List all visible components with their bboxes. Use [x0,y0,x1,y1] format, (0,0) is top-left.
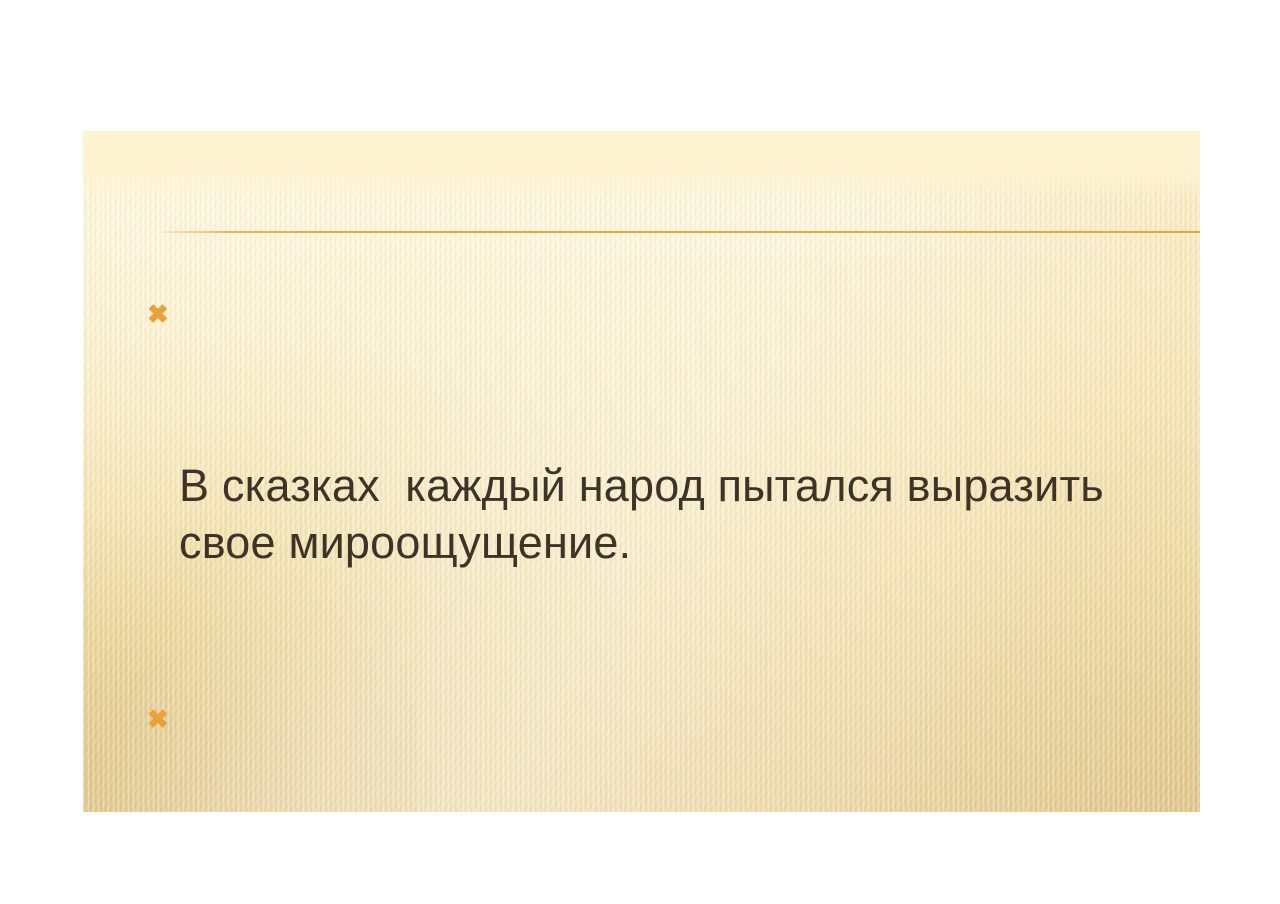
list-item: ✖ В сказках каждый народ пытался выразит… [143,286,1153,685]
slide-canvas: ✖ В сказках каждый народ пытался выразит… [83,131,1200,812]
slide-bullet-list: ✖ В сказках каждый народ пытался выразит… [143,286,1153,812]
cross-bullet-icon: ✖ [147,691,173,748]
list-item: ✖ Чтобы наделить детей верной жизненной … [143,691,1153,812]
slide-title [163,171,1200,229]
cross-bullet-icon: ✖ [147,286,173,343]
list-item-text: В сказках каждый народ пытался выразить … [179,457,1153,571]
presentation-page: ✖ В сказках каждый народ пытался выразит… [0,0,1280,904]
title-divider [163,231,1200,233]
